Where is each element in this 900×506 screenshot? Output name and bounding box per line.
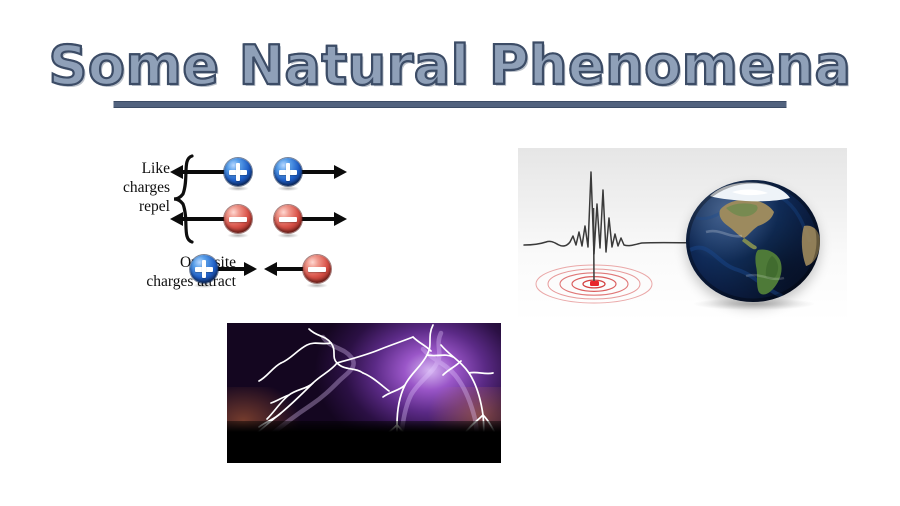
arrow-right-icon: [334, 212, 347, 226]
plus-sign-icon: [202, 260, 207, 278]
title-underline: [114, 101, 787, 108]
earth-continents-graphic: [686, 180, 820, 302]
epicenter-marker: [590, 281, 599, 286]
like-charges-positive-row: [170, 154, 348, 190]
arrow-right-icon: [334, 165, 347, 179]
negative-charge-sphere: [224, 205, 252, 233]
positive-charge-sphere: [274, 158, 302, 186]
arrow-right-icon: [244, 262, 257, 276]
minus-sign-icon: [308, 267, 326, 272]
slide-canvas: Some Natural Phenomena Like charges repe…: [0, 0, 900, 506]
plus-sign-icon: [286, 163, 291, 181]
minus-sign-icon: [229, 217, 247, 222]
negative-charge-sphere: [274, 205, 302, 233]
positive-charge-sphere: [224, 158, 252, 186]
like-charges-negative-row: [170, 201, 348, 237]
lightning-ground-silhouette: [227, 421, 501, 463]
page-title: Some Natural Phenomena: [43, 38, 858, 99]
arrow-left-icon: [170, 212, 183, 226]
like-charges-label: Like charges repel: [60, 160, 170, 217]
plus-sign-icon: [236, 163, 241, 181]
lightning-storm-image: [227, 323, 501, 463]
negative-charge-sphere: [303, 255, 331, 283]
minus-sign-icon: [279, 217, 297, 222]
arrow-left-icon: [264, 262, 277, 276]
earthquake-seismograph-globe-image: [518, 148, 847, 322]
arrow-left-icon: [170, 165, 183, 179]
opposite-charges-row: [190, 251, 332, 287]
electric-charges-diagram: Like charges repel: [60, 146, 350, 298]
earth-globe-icon: [686, 180, 820, 302]
page-title-block: Some Natural Phenomena: [0, 38, 900, 99]
positive-charge-sphere: [190, 255, 218, 283]
